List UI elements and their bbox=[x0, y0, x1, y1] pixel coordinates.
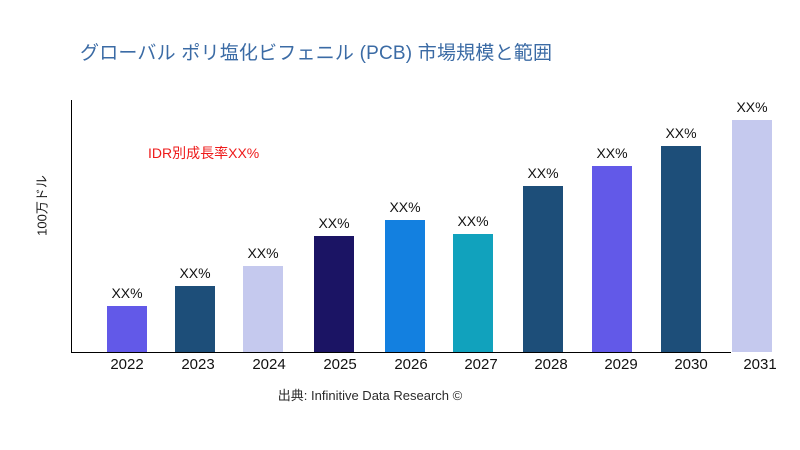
bar-rect[interactable] bbox=[732, 120, 772, 352]
bar-value-label: XX% bbox=[389, 199, 420, 215]
bar-2026[interactable]: XX% bbox=[385, 220, 425, 352]
bar-value-label: XX% bbox=[457, 213, 488, 229]
x-axis-tick-2031: 2031 bbox=[730, 356, 790, 373]
bar-2025[interactable]: XX% bbox=[314, 236, 354, 352]
x-axis-line bbox=[71, 352, 731, 353]
bar-2030[interactable]: XX% bbox=[661, 146, 701, 352]
y-axis-label: 100万ドル bbox=[32, 146, 51, 266]
bar-2027[interactable]: XX% bbox=[453, 234, 493, 352]
x-axis-tick-2028: 2028 bbox=[521, 356, 581, 373]
x-axis-tick-2024: 2024 bbox=[239, 356, 299, 373]
bar-rect[interactable] bbox=[385, 220, 425, 352]
bar-value-label: XX% bbox=[318, 215, 349, 231]
x-axis-tick-2022: 2022 bbox=[97, 356, 157, 373]
bar-rect[interactable] bbox=[243, 266, 283, 352]
bar-value-label: XX% bbox=[665, 125, 696, 141]
x-axis-tick-2027: 2027 bbox=[451, 356, 511, 373]
bar-value-label: XX% bbox=[111, 285, 142, 301]
bar-2028[interactable]: XX% bbox=[523, 186, 563, 352]
bar-2031[interactable]: XX% bbox=[732, 120, 772, 352]
x-axis-tick-2023: 2023 bbox=[168, 356, 228, 373]
bar-rect[interactable] bbox=[453, 234, 493, 352]
bar-2022[interactable]: XX% bbox=[107, 306, 147, 352]
bar-rect[interactable] bbox=[175, 286, 215, 352]
bar-rect[interactable] bbox=[661, 146, 701, 352]
bar-value-label: XX% bbox=[596, 145, 627, 161]
bar-rect[interactable] bbox=[523, 186, 563, 352]
bar-rect[interactable] bbox=[592, 166, 632, 352]
chart-canvas: グローバル ポリ塩化ビフェニル (PCB) 市場規模と範囲 100万ドル IDR… bbox=[0, 0, 800, 450]
bar-rect[interactable] bbox=[314, 236, 354, 352]
bar-value-label: XX% bbox=[527, 165, 558, 181]
bar-2023[interactable]: XX% bbox=[175, 286, 215, 352]
bar-value-label: XX% bbox=[736, 99, 767, 115]
bar-2024[interactable]: XX% bbox=[243, 266, 283, 352]
bar-rect[interactable] bbox=[107, 306, 147, 352]
bar-value-label: XX% bbox=[247, 245, 278, 261]
x-axis-tick-2029: 2029 bbox=[591, 356, 651, 373]
x-axis-tick-2030: 2030 bbox=[661, 356, 721, 373]
source-attribution: 出典: Infinitive Data Research © bbox=[0, 385, 740, 404]
bar-value-label: XX% bbox=[179, 265, 210, 281]
page-title: グローバル ポリ塩化ビフェニル (PCB) 市場規模と範囲 bbox=[80, 38, 552, 65]
x-axis-tick-2026: 2026 bbox=[381, 356, 441, 373]
x-axis-tick-2025: 2025 bbox=[310, 356, 370, 373]
plot-area: XX%XX%XX%XX%XX%XX%XX%XX%XX%XX% bbox=[71, 100, 800, 352]
bar-2029[interactable]: XX% bbox=[592, 166, 632, 352]
